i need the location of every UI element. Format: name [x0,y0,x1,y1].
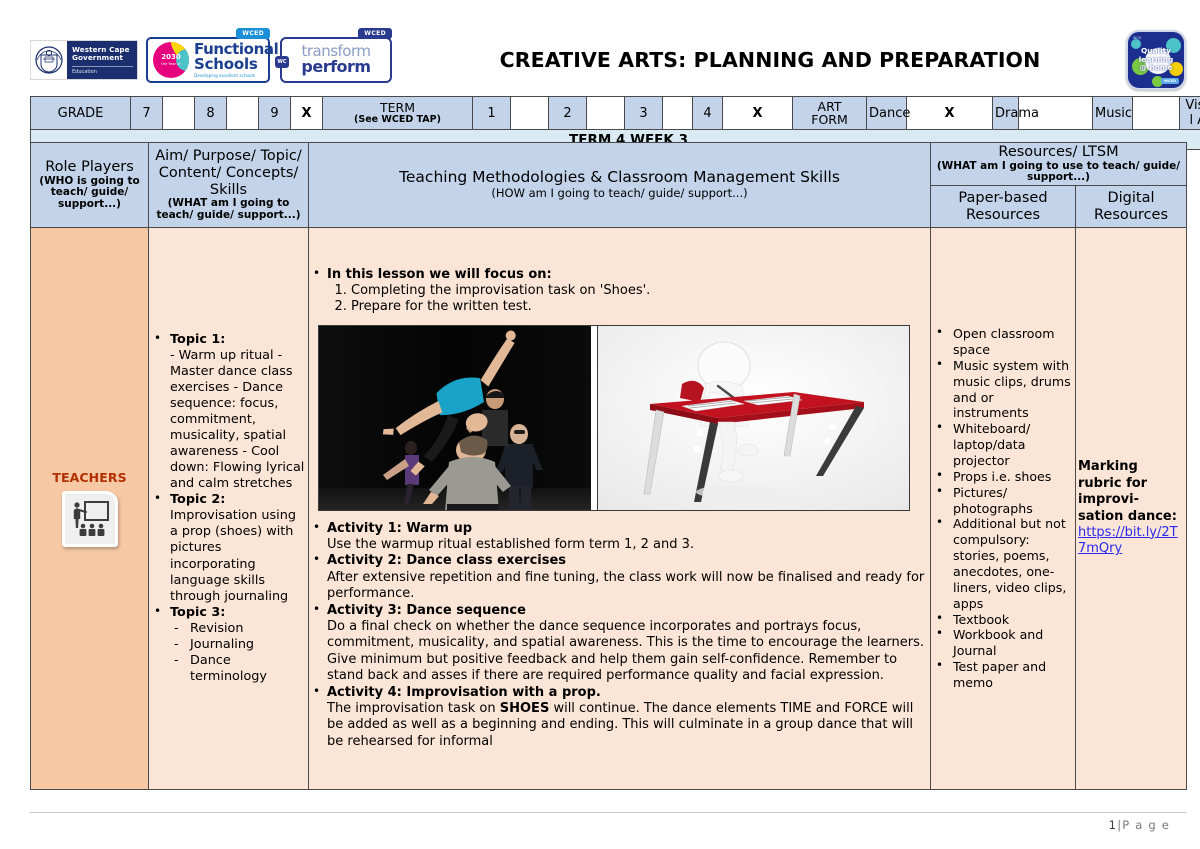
digital-resources-title: Digital Resources [1078,190,1184,223]
topic-item-1: Topic 1: - Warm up ritual - Master dance… [151,332,306,492]
term-option-1[interactable]: 1 [473,97,511,130]
tp-wced-tag: WCED [358,28,392,39]
wcg-crest-icon [31,41,67,79]
topic-3-sublist: Revision Journaling Dance terminology [170,621,306,685]
activity-list: Activity 1: Warm up Use the warmup ritua… [311,521,928,750]
paper-resource-item: Test paper and memo [933,659,1073,691]
topic-2-lines: Improvisation using a prop (shoes) with … [170,508,306,604]
resources-subtitle: (WHAT am I going to use to teach/ guide/… [933,161,1184,185]
functional-schools-logo: WCED 2030 the Year of Functional Schools… [146,37,270,83]
activity-4-text: The improvisation task on SHOES will con… [327,701,928,751]
column-header-row-1: Role Players (WHO is going to teach/ gui… [31,143,1187,186]
teaching-title: Teaching Methodologies & Classroom Manag… [311,169,928,187]
art-form-label: ART FORM [793,97,867,130]
activity-3-heading: Activity 3: Dance sequence [327,603,526,618]
activity-item-2: Activity 2: Dance class exercises After … [311,553,928,602]
activity-4-heading: Activity 4: Improvisation with a prop. [327,685,601,700]
transform-perform-logo: WCED WC transform perform [280,37,392,83]
lesson-focus-list: Completing the improvisation task on 'Sh… [327,283,928,316]
topic-3-sub-3: Dance terminology [170,653,306,685]
topic-3-heading: Topic 3: [170,605,225,620]
fs-wced-tag: WCED [236,28,270,39]
paper-resource-item: Music system with music clips, drums and… [933,358,1073,421]
grade-term-row: GRADE 7 8 9 X TERM (See WCED TAP) 1 2 3 … [31,97,1200,130]
wcg-department: Education [72,66,133,75]
lesson-images [318,325,910,511]
term-label-text: TERM [325,101,470,114]
digital-resource-heading: Marking rubric for improvi-sation dance: [1078,459,1184,525]
grade-option-9[interactable]: 9 [259,97,291,130]
fs-word-schools: Schools [194,57,278,72]
fs-year: 2030 [161,54,180,61]
paper-resource-item: Additional but not compulsory: stories, … [933,516,1073,611]
paper-resource-item: Textbook [933,612,1073,628]
fs-year-circle: 2030 the Year of [153,42,189,78]
lesson-plan-table: Role Players (WHO is going to teach/ gui… [30,142,1187,790]
term-option-4[interactable]: 4 [693,97,723,130]
cell-aim-topics: Topic 1: - Warm up ritual - Master dance… [149,228,309,790]
quality-learning-at-home-logo: WCG Quality learning @ home WCED [1126,30,1186,90]
wcg-wordmark: Western Cape Government Education [67,41,137,79]
topic-item-2: Topic 2: Improvisation using a prop (sho… [151,492,306,604]
lesson-plan-page: Western Cape Government Education WCED 2… [0,0,1200,849]
header-role-players: Role Players (WHO is going to teach/ gui… [31,143,149,228]
lesson-focus-2: Prepare for the written test. [351,299,928,316]
topic-3-sub-2: Journaling [170,637,306,653]
activity-2-heading: Activity 2: Dance class exercises [327,553,566,568]
topic-1-heading: Topic 1: [170,332,225,347]
term-label-sub: (See WCED TAP) [325,115,470,125]
art-form-dance-marked[interactable]: X [907,97,993,130]
paper-resources-title: Paper-based Resources [933,190,1073,223]
learner-writing-test-photo [597,326,909,510]
header-resources: Resources/ LTSM (WHAT am I going to use … [931,143,1187,186]
lesson-focus-item: In this lesson we will focus on: Complet… [311,267,928,316]
term-option-3[interactable]: 3 [625,97,663,130]
qlh-corner-tag: WCG [1133,36,1141,40]
grade-option-7[interactable]: 7 [131,97,163,130]
document-header: Western Cape Government Education WCED 2… [30,26,1186,94]
paper-resource-list: Open classroom space Music system with m… [933,326,1073,691]
fs-wordmark: Functional Schools Developing excellent … [194,42,278,78]
paper-resource-item: Props i.e. shoes [933,469,1073,485]
teacher-presenting-icon [62,491,118,547]
aim-title: Aim/ Purpose/ Topic/ Content/ Concepts/ … [151,148,306,198]
cell-teaching-methodologies: In this lesson we will focus on: Complet… [309,228,931,790]
term-checkbox-2[interactable] [587,97,625,130]
page-title: CREATIVE ARTS: PLANNING AND PREPARATION [392,48,1126,72]
header-digital-resources: Digital Resources [1076,186,1187,228]
grade-checkbox-8[interactable] [227,97,259,130]
grade-checkbox-9-marked[interactable]: X [291,97,323,130]
marking-rubric-link[interactable]: https://bit.ly/2T7mQry [1078,525,1184,558]
lesson-focus-1: Completing the improvisation task on 'Sh… [351,283,928,300]
wcg-line2: Government [72,53,123,62]
cell-digital-resources: Marking rubric for improvi-sation dance:… [1076,228,1187,790]
lesson-content-row: TEACHERS [31,228,1187,790]
logo-group: Western Cape Government Education WCED 2… [30,37,392,83]
header-aim: Aim/ Purpose/ Topic/ Content/ Concepts/ … [149,143,309,228]
paper-resource-item: Pictures/ photographs [933,485,1073,517]
art-form-music[interactable]: Music [1093,97,1133,130]
activity-item-4: Activity 4: Improvisation with a prop. T… [311,685,928,751]
term-checkbox-3[interactable] [663,97,693,130]
art-form-label-line2: FORM [795,113,864,126]
footer-page-word: P a g e [1122,818,1170,832]
role-players-title: Role Players [33,159,146,176]
activity-1-text: Use the warmup ritual established form t… [327,537,928,554]
topic-2-heading: Topic 2: [170,492,225,507]
topic-list: Topic 1: - Warm up ritual - Master dance… [151,332,306,685]
footer-page-number: 1 [1109,818,1118,832]
tp-wordmark: transform perform [301,44,370,76]
term-checkbox-4-marked[interactable]: X [723,97,793,130]
paper-resource-item: Workbook and Journal [933,627,1073,659]
grade-option-8[interactable]: 8 [195,97,227,130]
aim-subtitle: (WHAT am I going to teach/ guide/ suppor… [151,198,306,222]
paper-resource-item: Open classroom space [933,326,1073,358]
footer-divider [30,812,1186,813]
grade-label: GRADE [31,97,131,130]
topic-item-3: Topic 3: Revision Journaling Dance termi… [151,605,306,685]
topic-1-lines: - Warm up ritual - Master dance class ex… [170,348,306,492]
lesson-focus-heading: In this lesson we will focus on: [327,267,552,282]
term-label: TERM (See WCED TAP) [323,97,473,130]
term-option-2[interactable]: 2 [549,97,587,130]
teaching-subtitle: (HOW am I going to teach/ guide/ support… [311,187,928,200]
western-cape-government-logo: Western Cape Government Education [30,40,138,80]
activity-3-text: Do a final check on whether the dance se… [327,619,928,685]
art-form-visual-art[interactable]: Visua l Art [1180,97,1200,130]
fs-tagline: Developing excellent schools [194,74,278,78]
activity-item-1: Activity 1: Warm up Use the warmup ritua… [311,521,928,554]
activity-4-text-bold: SHOES [500,701,550,716]
activity-2-text: After extensive repetition and fine tuni… [327,570,928,603]
qlh-wced-tag: WCED [1161,78,1179,84]
tp-word-perform: perform [301,59,370,75]
art-form-music-checkbox[interactable] [1133,97,1180,130]
term-checkbox-1[interactable] [511,97,549,130]
paper-resource-item: Whiteboard/ laptop/data projector [933,421,1073,469]
grade-checkbox-7[interactable] [163,97,195,130]
resources-title: Resources/ LTSM [933,144,1184,161]
tp-dot-badge: WC [275,56,289,68]
cell-paper-resources: Open classroom space Music system with m… [931,228,1076,790]
art-form-dance[interactable]: Dance [867,97,907,130]
topic-3-sub-1: Revision [170,621,306,637]
lesson-focus-block: In this lesson we will focus on: Complet… [311,267,928,316]
activity-item-3: Activity 3: Dance sequence Do a final ch… [311,603,928,685]
qlh-text: Quality learning @ home [1139,47,1174,73]
fs-year-sub: the Year of [161,62,180,66]
page-footer: 1|P a g e [1109,818,1170,832]
cell-role-players: TEACHERS [31,228,149,790]
header-teaching: Teaching Methodologies & Classroom Manag… [309,143,931,228]
role-players-subtitle: (WHO is going to teach/ guide/ support..… [33,176,146,211]
art-form-drama[interactable]: Drama [993,97,1019,130]
activity-4-text-before: The improvisation task on [327,701,500,716]
activity-1-heading: Activity 1: Warm up [327,521,472,536]
role-players-value: TEACHERS [33,470,146,485]
dance-rehearsal-photo [319,326,591,510]
header-paper-resources: Paper-based Resources [931,186,1076,228]
